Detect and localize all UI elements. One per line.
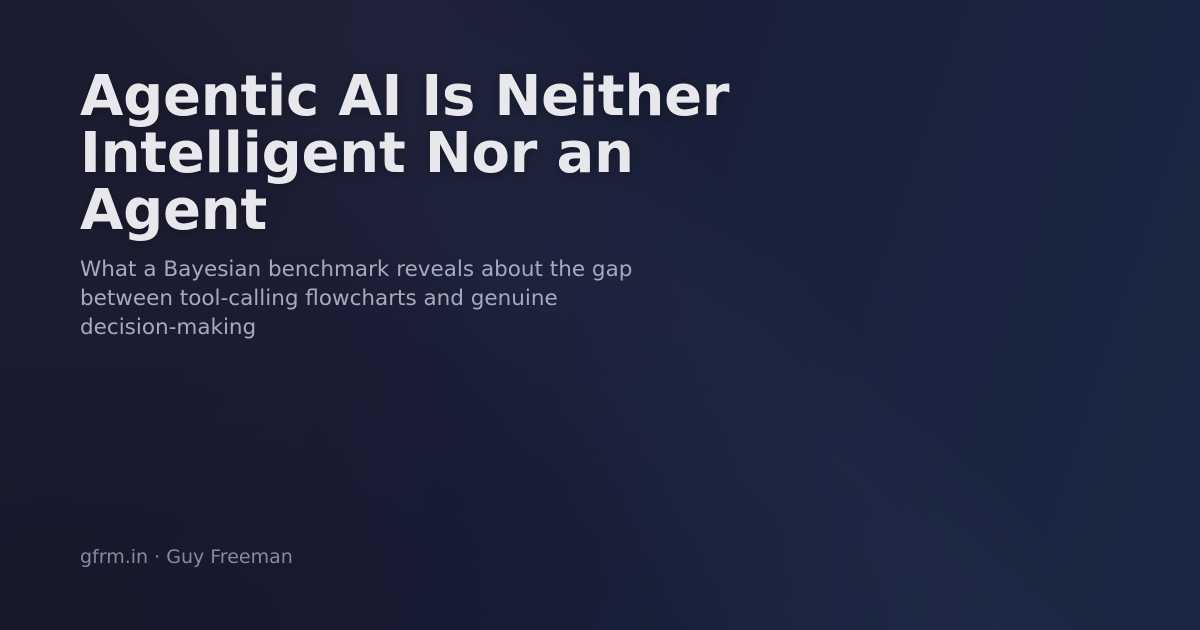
page-subtitle: What a Bayesian benchmark reveals about …: [80, 255, 658, 342]
footer-byline: gfrm.in · Guy Freeman: [80, 545, 293, 569]
social-card: Agentic AI Is Neither Intelligent Nor an…: [0, 0, 1200, 630]
page-title: Agentic AI Is Neither Intelligent Nor an…: [80, 68, 840, 239]
card-content: Agentic AI Is Neither Intelligent Nor an…: [0, 0, 1200, 630]
